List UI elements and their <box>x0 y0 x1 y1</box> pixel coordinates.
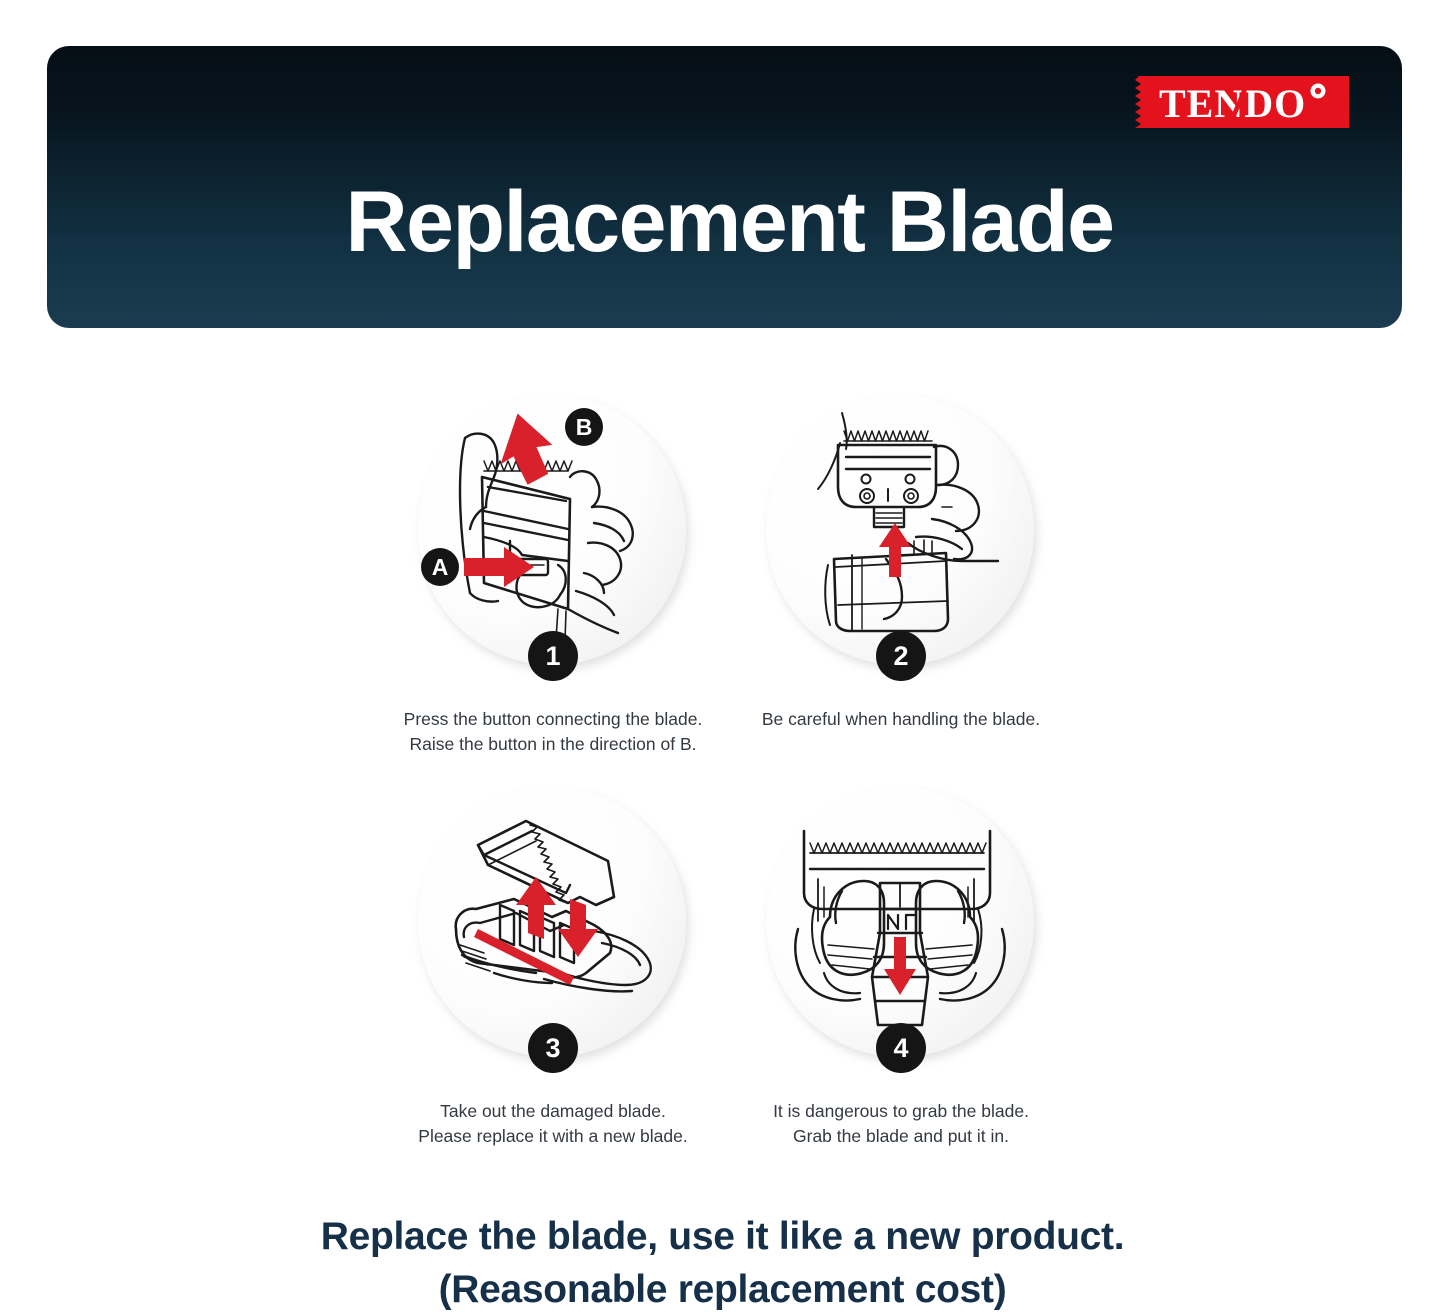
step-3-number: 3 <box>528 1023 578 1073</box>
step-3-illustration: 3 <box>418 787 688 1059</box>
step-2: 2 Be careful when handling the blade. <box>731 395 1071 667</box>
footer-line-1: Replace the blade, use it like a new pro… <box>0 1211 1445 1264</box>
step-1-caption: Press the button connecting the blade. R… <box>363 707 743 757</box>
step-2-bubble <box>766 395 1034 665</box>
footer-line-2: (Reasonable replacement cost) <box>0 1264 1445 1312</box>
step-4-caption: It is dangerous to grab the blade. Grab … <box>711 1099 1091 1149</box>
step-row-1: A B 1 Press the button connecting the bl… <box>0 395 1445 785</box>
step-3-bubble <box>418 787 686 1057</box>
svg-text:A: A <box>432 554 449 580</box>
page-title: Replacement Blade <box>47 179 1402 265</box>
footer-message: Replace the blade, use it like a new pro… <box>0 1211 1445 1312</box>
step-3-caption: Take out the damaged blade. Please repla… <box>363 1099 743 1149</box>
step-1-number: 1 <box>528 631 578 681</box>
tendo-logo: TENDO <box>1125 74 1349 130</box>
steps-grid: A B 1 Press the button connecting the bl… <box>0 395 1445 1177</box>
step-4-bubble <box>766 787 1034 1057</box>
step-4-illustration: 4 <box>766 787 1036 1059</box>
step-3: 3 Take out the damaged blade. Please rep… <box>383 787 723 1059</box>
step-1-illustration: A B 1 <box>418 395 688 667</box>
step-1: A B 1 Press the button connecting the bl… <box>383 395 723 667</box>
step-2-caption: Be careful when handling the blade. <box>711 707 1091 732</box>
step-2-illustration: 2 <box>766 395 1036 667</box>
step-1-bubble: A B <box>418 395 686 665</box>
step-4: 4 It is dangerous to grab the blade. Gra… <box>731 787 1071 1059</box>
step-row-2: 3 Take out the damaged blade. Please rep… <box>0 787 1445 1177</box>
step-2-number: 2 <box>876 631 926 681</box>
step-4-number: 4 <box>876 1023 926 1073</box>
svg-text:B: B <box>576 414 593 440</box>
page-root: Replacement Blade TENDO <box>0 0 1445 1312</box>
